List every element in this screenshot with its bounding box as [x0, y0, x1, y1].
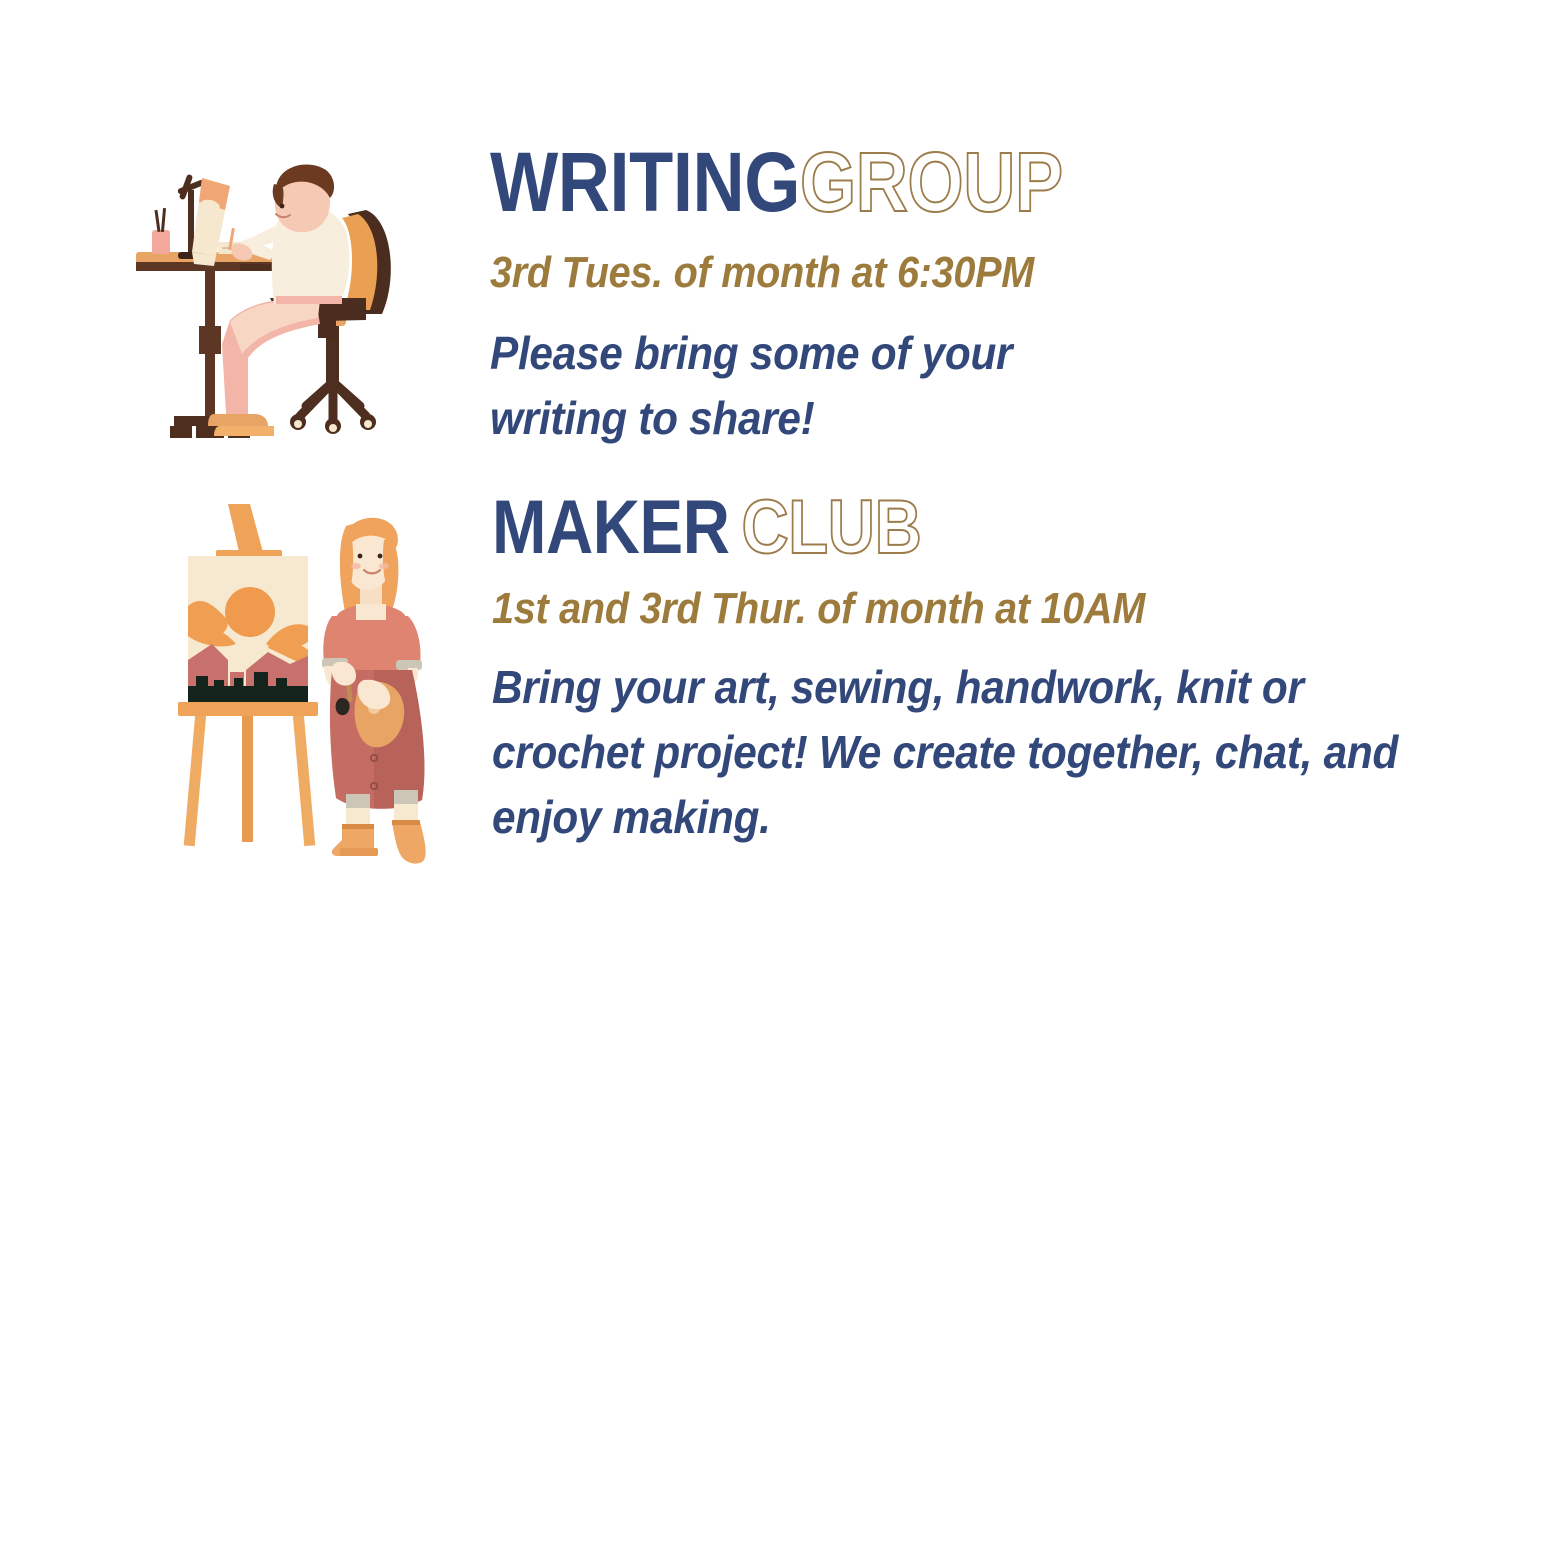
- writing-group-text-column: WRITINGGROUP 3rd Tues. of month at 6:30P…: [490, 140, 1190, 451]
- maker-club-schedule: 1st and 3rd Thur. of month at 10AM: [492, 584, 1410, 635]
- writing-group-body: Please bring some of your writing to sha…: [490, 321, 1134, 452]
- writing-group-heading-outline: GROUP: [800, 135, 1063, 229]
- event-block-maker-club: MAKERCLUB 1st and 3rd Thur. of month at …: [150, 490, 1512, 864]
- maker-club-text-column: MAKERCLUB 1st and 3rd Thur. of month at …: [492, 490, 1512, 851]
- event-block-writing-group: WRITINGGROUP 3rd Tues. of month at 6:30P…: [130, 140, 1190, 451]
- maker-club-heading: MAKERCLUB: [492, 490, 1369, 566]
- maker-club-body: Bring your art, sewing, handwork, knit o…: [492, 655, 1430, 851]
- writing-group-heading: WRITINGGROUP: [490, 140, 1092, 224]
- maker-club-illustration-column: [150, 490, 492, 864]
- writing-group-illustration-column: [130, 140, 490, 448]
- maker-club-heading-solid: MAKER: [492, 485, 729, 570]
- writing-group-schedule: 3rd Tues. of month at 6:30PM: [490, 248, 1120, 299]
- woman-painting-at-easel-illustration: [150, 494, 450, 864]
- maker-club-heading-outline: CLUB: [742, 485, 922, 570]
- writing-group-heading-solid: WRITING: [490, 135, 800, 229]
- poster-canvas: WRITINGGROUP 3rd Tues. of month at 6:30P…: [0, 0, 1545, 1545]
- person-writing-at-desk-illustration: [130, 148, 430, 448]
